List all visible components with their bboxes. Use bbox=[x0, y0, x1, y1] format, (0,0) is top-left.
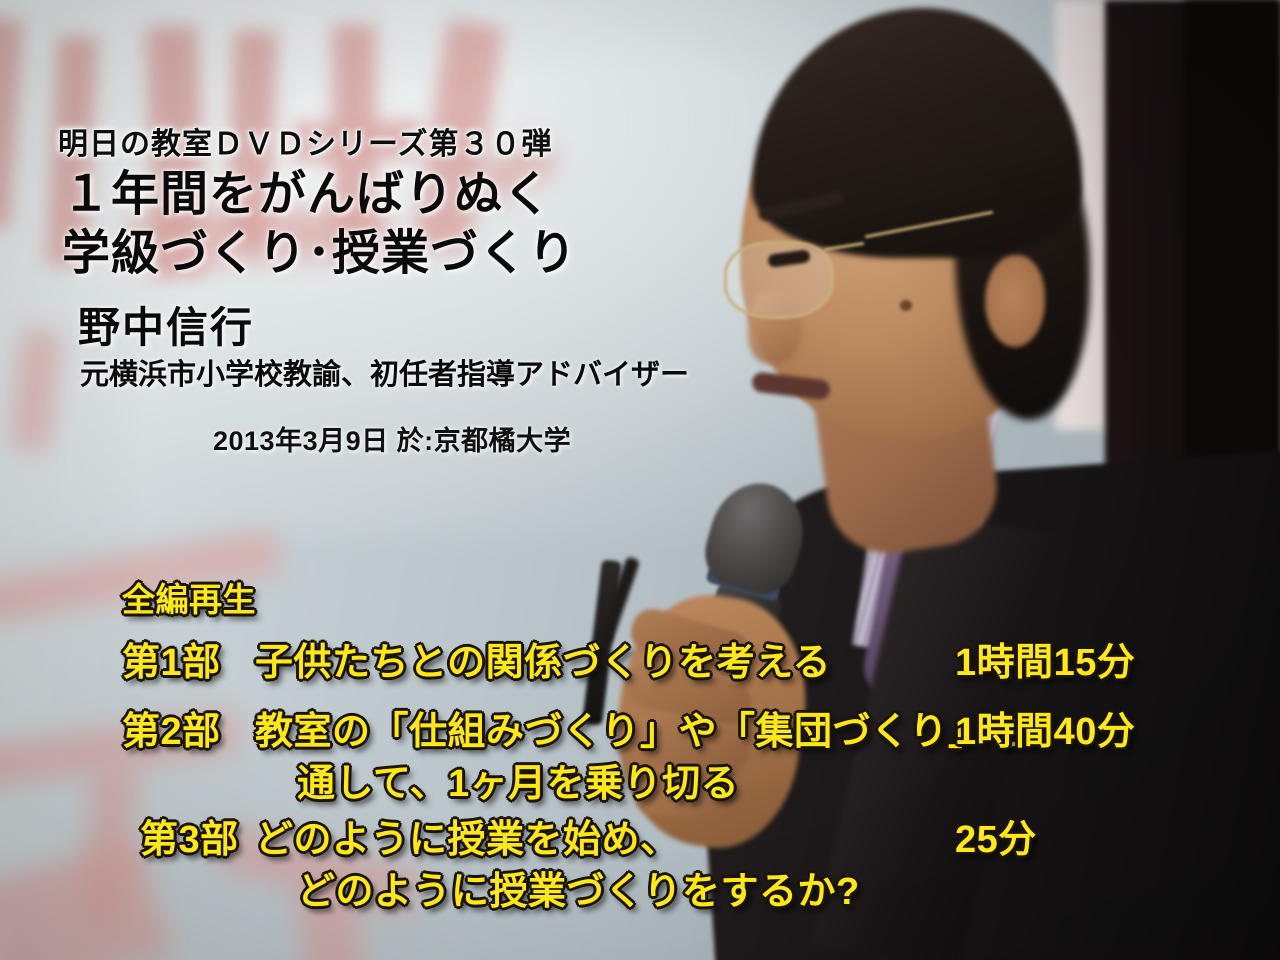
menu-item-part2-title-line2[interactable]: 通して、1ヶ月を乗り切る bbox=[297, 752, 739, 807]
menu-item-part1-number[interactable]: 第1部 bbox=[122, 631, 221, 686]
title-line-1: １年間をがんばりぬく bbox=[62, 166, 577, 225]
series-label: 明日の教室ＤＶＤシリーズ第３０弾 bbox=[58, 119, 553, 163]
page-title: １年間をがんばりぬく 学級づくり･授業づくり bbox=[62, 166, 577, 283]
title-line-2: 学級づくり･授業づくり bbox=[62, 225, 577, 284]
menu-item-part2-title[interactable]: 教室の「仕組みづくり」や「集団づくり」を bbox=[255, 700, 1025, 755]
menu-item-part2-number[interactable]: 第2部 bbox=[122, 700, 221, 755]
menu-item-part3-number[interactable]: 第3部 bbox=[140, 808, 239, 863]
menu-item-part3-duration: 25分 bbox=[955, 808, 1037, 863]
menu-item-part1-title[interactable]: 子供たちとの関係づくりを考える bbox=[255, 631, 831, 686]
text-overlay: 明日の教室ＤＶＤシリーズ第３０弾 １年間をがんばりぬく 学級づくり･授業づくり … bbox=[0, 0, 1280, 960]
menu-item-play-all[interactable]: 全編再生 bbox=[122, 573, 256, 621]
date-venue: 2013年3月9日 於:京都橘大学 bbox=[213, 419, 571, 458]
menu-item-part3-title[interactable]: どのように授業を始め、 bbox=[255, 808, 679, 863]
speaker-name: 野中信行 bbox=[78, 294, 254, 355]
menu-item-part3-title-line2[interactable]: どのように授業づくりをするか? bbox=[297, 860, 860, 915]
dvd-menu-screen: 明日の教室ＤＶＤシリーズ第３０弾 １年間をがんばりぬく 学級づくり･授業づくり … bbox=[0, 0, 1280, 960]
menu-item-part2-duration: 1時間40分 bbox=[955, 700, 1135, 755]
speaker-affiliation: 元横浜市小学校教諭、初任者指導アドバイザー bbox=[80, 351, 689, 393]
menu-item-part1-duration: 1時間15分 bbox=[955, 631, 1135, 686]
